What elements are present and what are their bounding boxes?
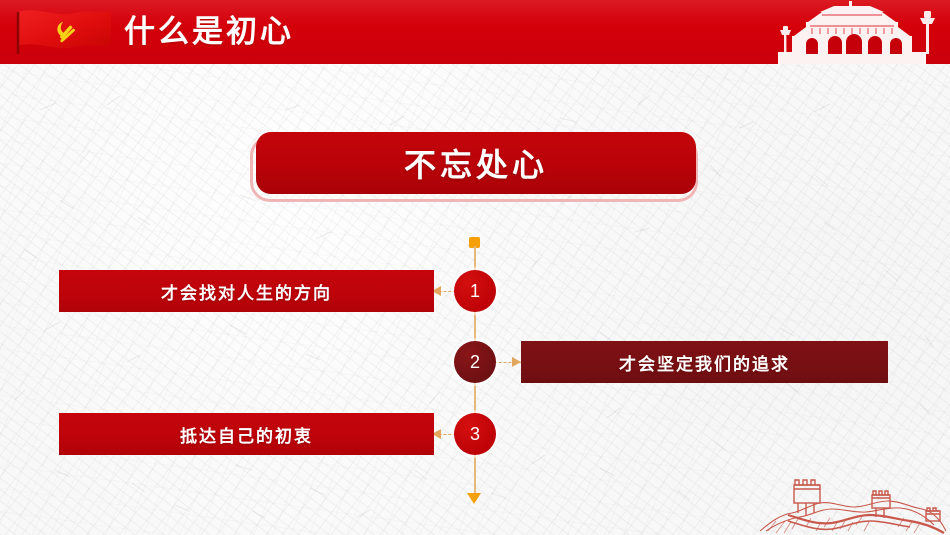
header-bar: 什么是初心: [0, 0, 950, 64]
header-title: 什么是初心: [124, 11, 294, 53]
flow-node-box-2[interactable]: 才会坚定我们的追求: [521, 341, 888, 383]
flow-node-circle-2[interactable]: 2: [454, 341, 496, 383]
tiananmen-gate-icon: [750, 0, 950, 64]
flow-node-box-1[interactable]: 才会找对人生的方向: [59, 270, 434, 312]
great-wall-icon: [758, 457, 948, 535]
flow-node-label-1: 才会找对人生的方向: [161, 279, 332, 304]
flow-node-circle-3[interactable]: 3: [454, 413, 496, 455]
main-title-banner: 不忘处心: [250, 136, 698, 202]
slide-root: 什么是初心: [0, 0, 950, 535]
party-flag-hammer-sickle-icon: [14, 6, 114, 58]
flow-node-number-1: 1: [470, 281, 480, 302]
banner-title-text: 不忘处心: [404, 140, 548, 186]
banner-fill: 不忘处心: [256, 132, 696, 194]
flow-node-circle-1[interactable]: 1: [454, 270, 496, 312]
flow-node-number-3: 3: [470, 424, 480, 445]
flow-node-label-3: 抵达自己的初衷: [180, 422, 313, 447]
flow-node-box-3[interactable]: 抵达自己的初衷: [59, 413, 434, 455]
flow-node-number-2: 2: [470, 352, 480, 373]
flow-node-label-2: 才会坚定我们的追求: [619, 350, 790, 375]
